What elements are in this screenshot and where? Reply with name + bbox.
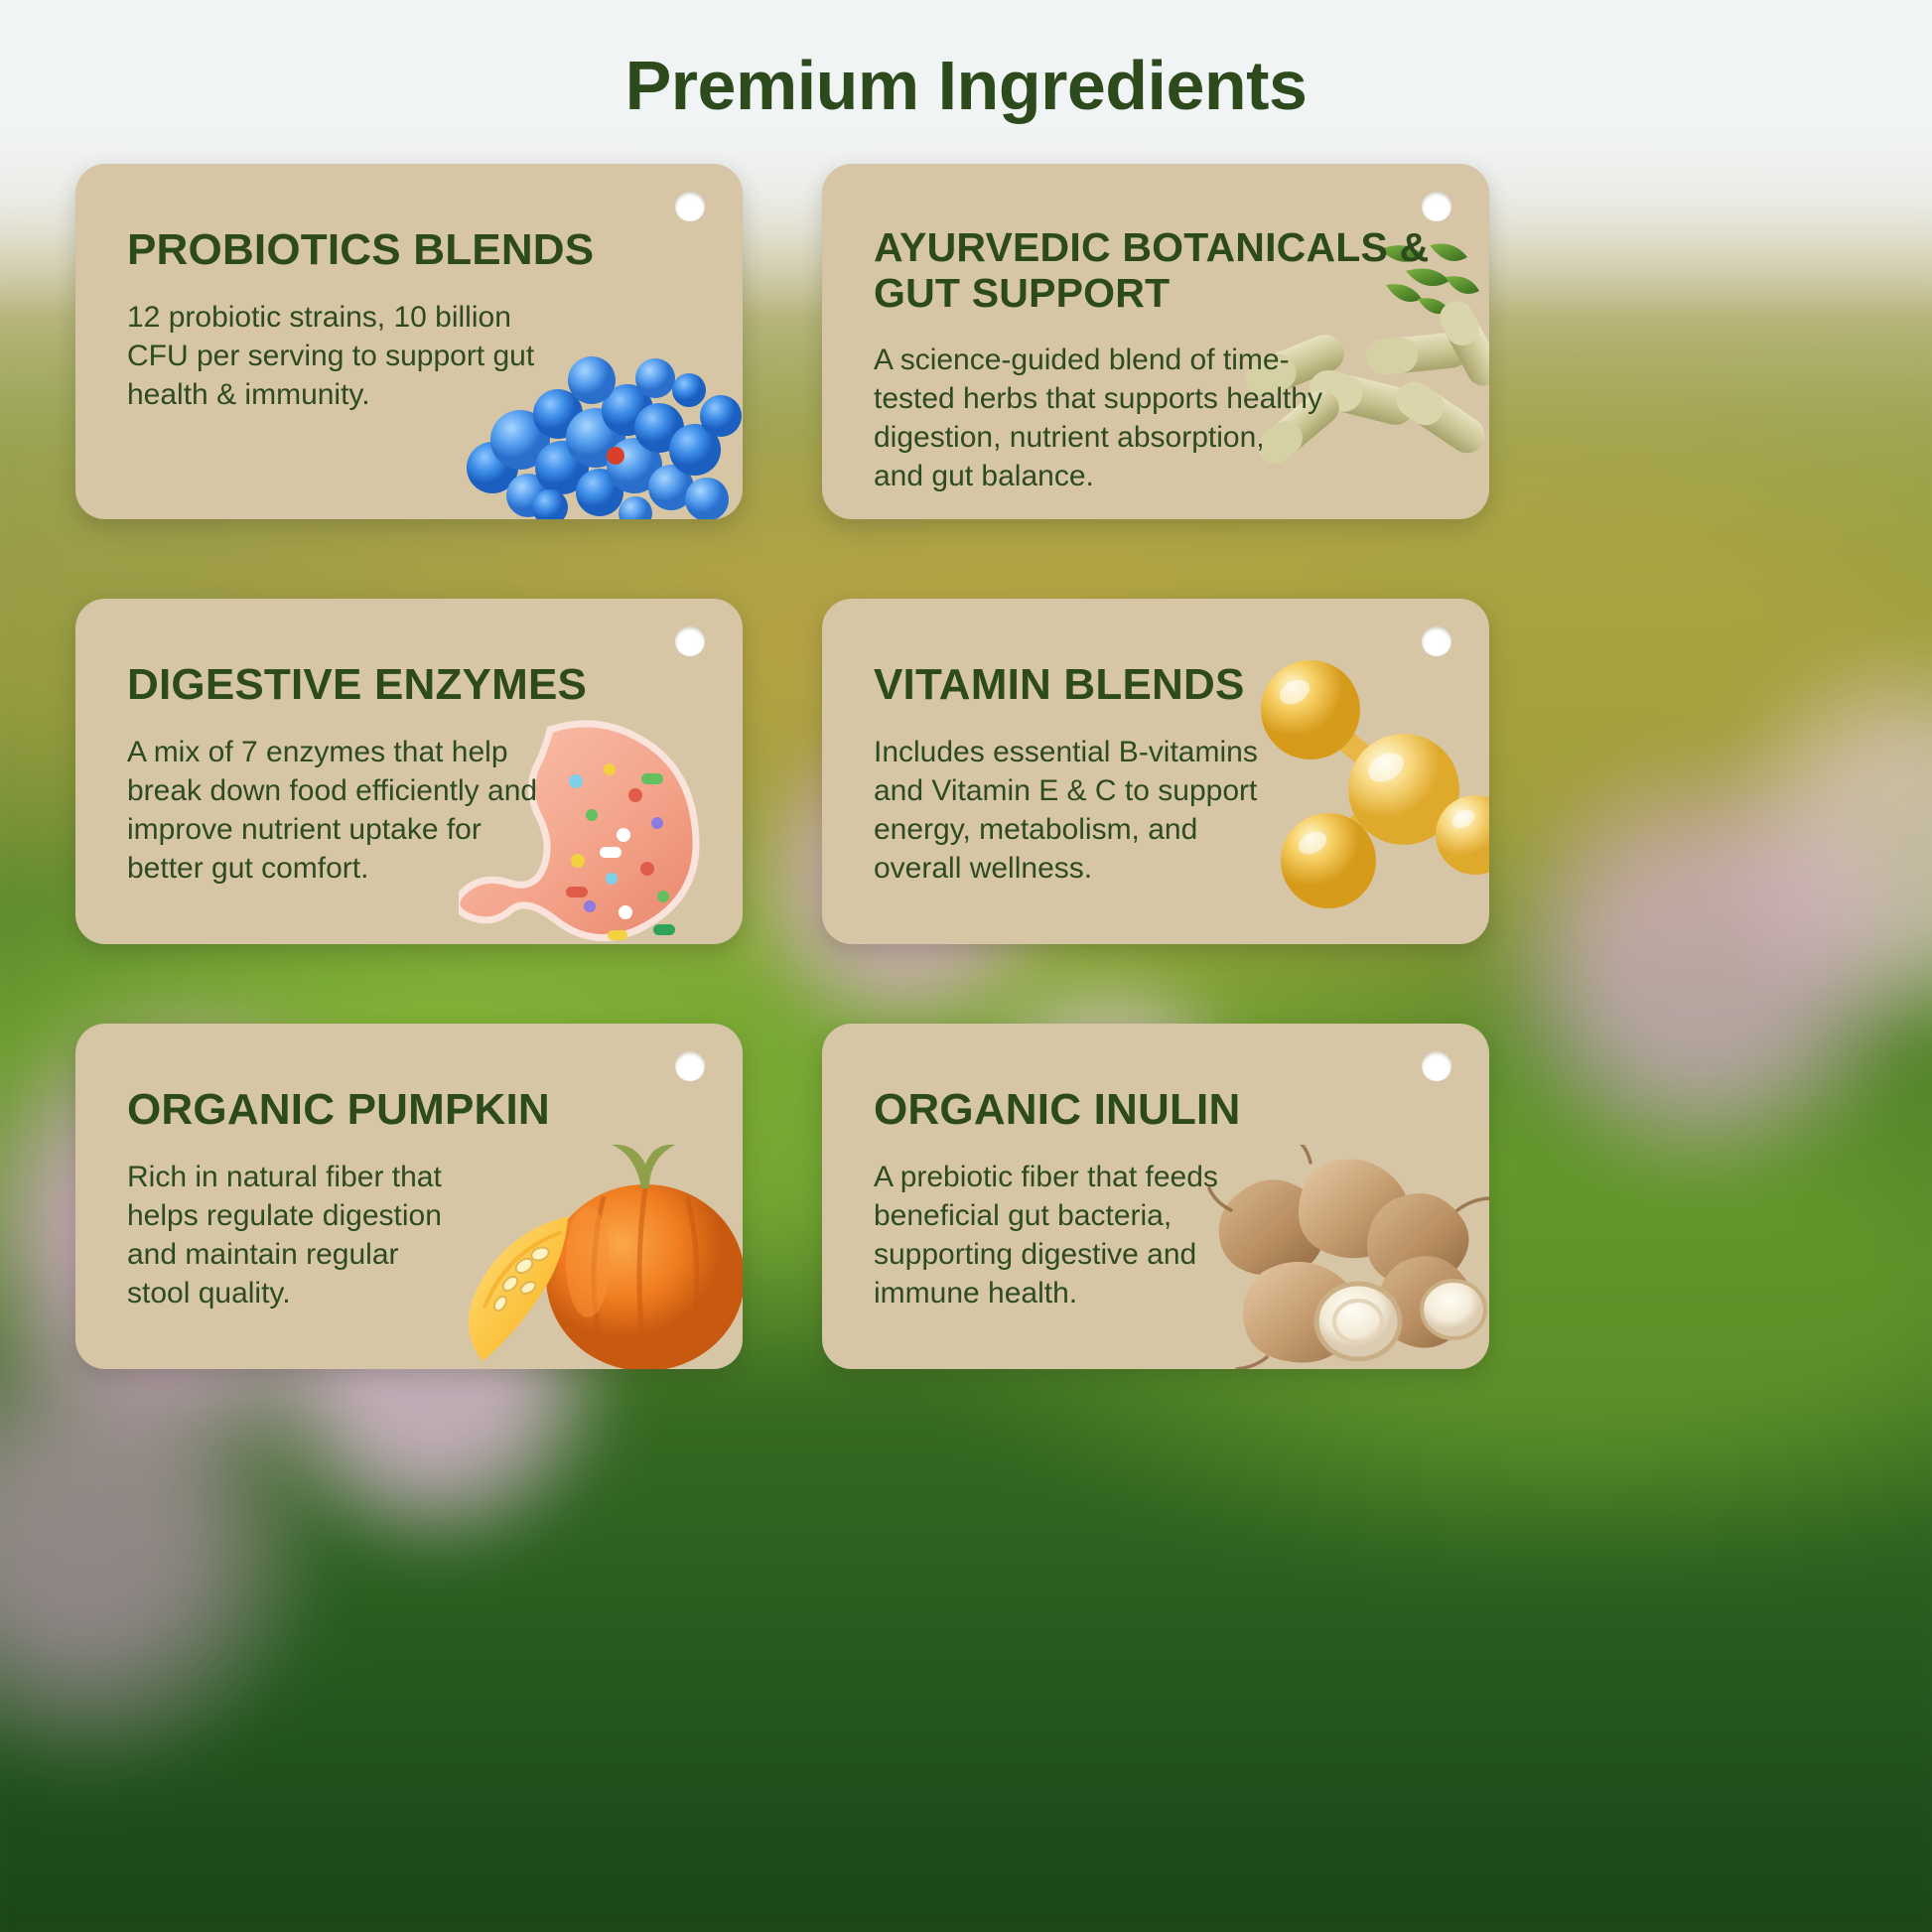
ingredient-card-organic-inulin[interactable]: ORGANIC INULIN A prebiotic fiber that fe…: [822, 1024, 1489, 1369]
infographic-canvas: Premium Ingredients PROBIOTICS BLENDS 12…: [0, 0, 1932, 1932]
ingredient-card-digestive-enzymes[interactable]: DIGESTIVE ENZYMES A mix of 7 enzymes tha…: [75, 599, 743, 944]
ingredient-card-vitamin-blends[interactable]: VITAMIN BLENDS Includes essential B-vita…: [822, 599, 1489, 944]
card-title: DIGESTIVE ENZYMES: [127, 660, 703, 709]
page-title: Premium Ingredients: [0, 46, 1932, 125]
card-title: ORGANIC PUMPKIN: [127, 1085, 703, 1134]
ingredient-card-grid: PROBIOTICS BLENDS 12 probiotic strains, …: [75, 164, 1863, 1369]
card-hole-icon: [675, 1051, 705, 1081]
card-body: 12 probiotic strains, 10 billion CFU per…: [127, 298, 594, 414]
ingredient-card-ayurvedic-botanicals-gut-support[interactable]: AYURVEDIC BOTANICALS & GUT SUPPORT A sci…: [822, 164, 1489, 519]
ingredient-card-organic-pumpkin[interactable]: ORGANIC PUMPKIN Rich in natural fiber th…: [75, 1024, 743, 1369]
card-body: A mix of 7 enzymes that help break down …: [127, 733, 594, 888]
card-body: A science-guided blend of time- tested h…: [874, 341, 1370, 495]
card-body: A prebiotic fiber that feeds beneficial …: [874, 1158, 1340, 1312]
card-hole-icon: [1422, 626, 1451, 656]
card-title: AYURVEDIC BOTANICALS & GUT SUPPORT: [874, 225, 1449, 317]
card-hole-icon: [675, 192, 705, 221]
card-body: Includes essential B-vitamins and Vitami…: [874, 733, 1340, 888]
card-hole-icon: [1422, 1051, 1451, 1081]
card-hole-icon: [675, 626, 705, 656]
card-body: Rich in natural fiber that helps regulat…: [127, 1158, 594, 1312]
card-hole-icon: [1422, 192, 1451, 221]
ingredient-card-probiotics-blends[interactable]: PROBIOTICS BLENDS 12 probiotic strains, …: [75, 164, 743, 519]
card-title: PROBIOTICS BLENDS: [127, 225, 703, 274]
card-title: ORGANIC INULIN: [874, 1085, 1449, 1134]
card-title: VITAMIN BLENDS: [874, 660, 1449, 709]
